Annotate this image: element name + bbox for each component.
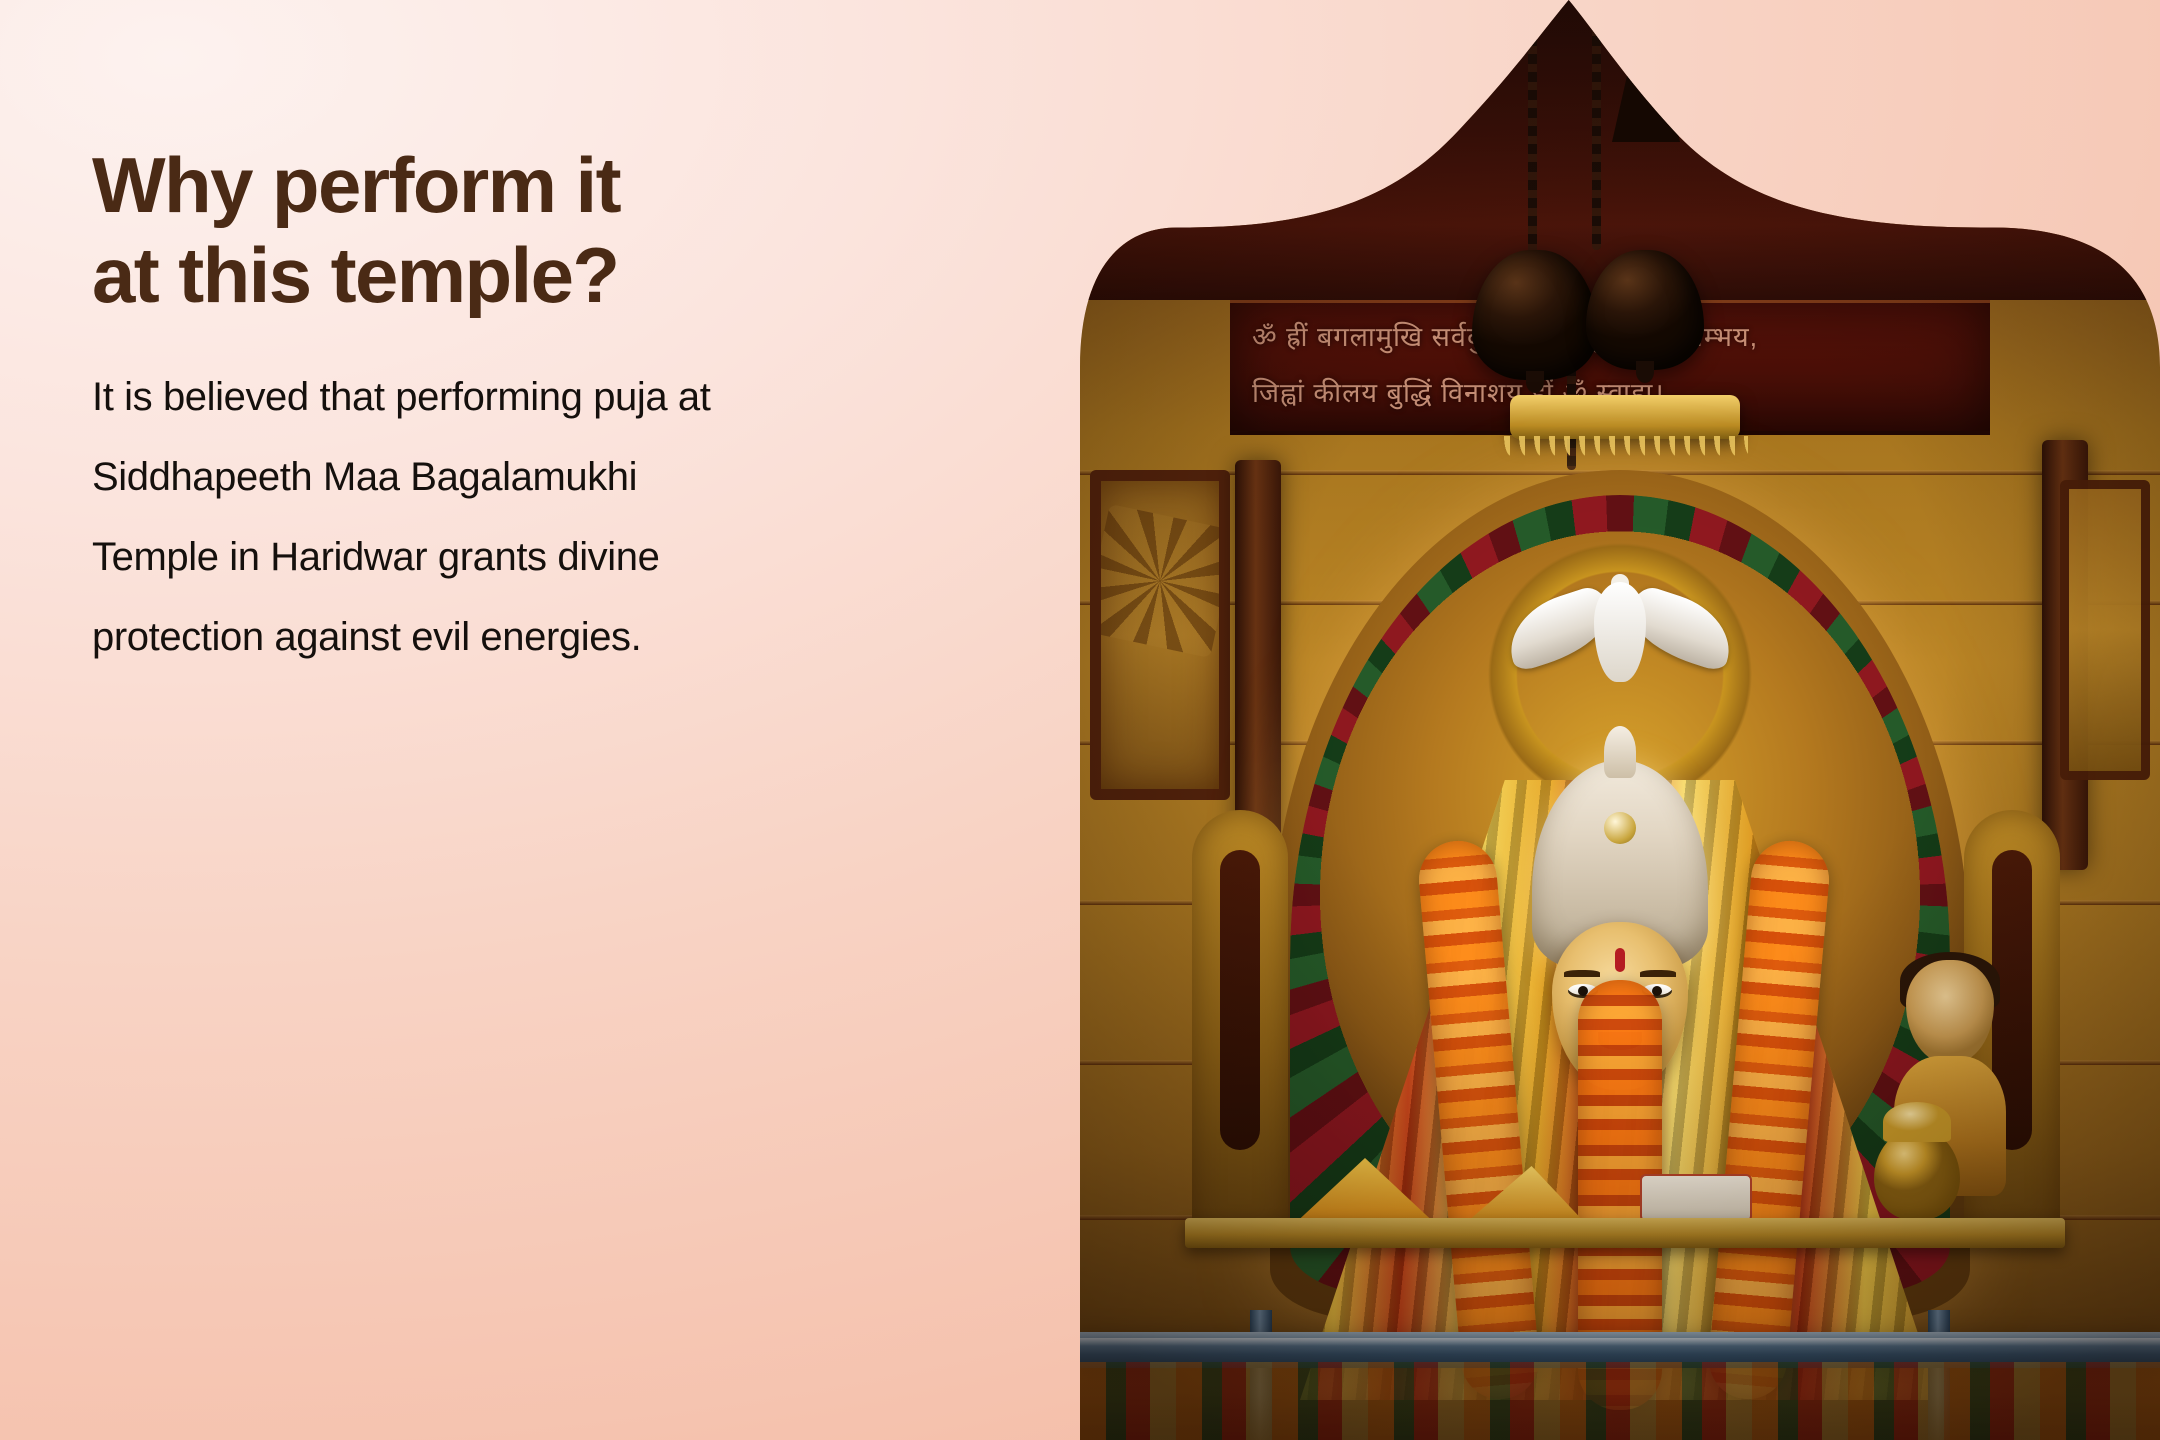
- wall-pillar-left: [1235, 460, 1281, 860]
- arch-masked-photo: ॐ ह्रीं बगलामुखि सर्वदुष्टानां वाचं मुखं…: [1080, 0, 2160, 1440]
- bell-chain: [1592, 0, 1601, 250]
- body-paragraph: It is believed that performing puja at S…: [92, 357, 717, 677]
- throne-arm-left: [1192, 810, 1288, 1240]
- canopy-crest: [1510, 395, 1740, 439]
- swan-body: [1594, 582, 1646, 682]
- text-column: Why perform it at this temple? It is bel…: [92, 140, 732, 677]
- railing-highlight: [1080, 1338, 2160, 1346]
- offering-box: [1640, 1174, 1752, 1222]
- eyebrow-left: [1564, 970, 1600, 977]
- page-title: Why perform it at this temple?: [92, 140, 732, 321]
- companion-head: [1906, 960, 1994, 1064]
- swan-motif-icon: [1505, 580, 1735, 700]
- base-offerings: [1080, 1362, 2160, 1440]
- jali-panel-left: [1090, 470, 1230, 800]
- brass-kalash-icon: [1874, 1128, 1960, 1220]
- jali-panel-right: [2060, 480, 2150, 780]
- offering-shelf: [1185, 1218, 2065, 1248]
- crown-gem-icon: [1604, 812, 1636, 844]
- star-carving-icon: [1090, 504, 1230, 658]
- tilak-icon: [1615, 948, 1625, 972]
- base-shadow-band: [1080, 1362, 2160, 1440]
- temple-photo: ॐ ह्रीं बगलामुखि सर्वदुष्टानां वाचं मुखं…: [1080, 0, 2160, 1440]
- slide-root: Why perform it at this temple? It is bel…: [0, 0, 2160, 1440]
- eyebrow-right: [1640, 970, 1676, 977]
- arch-finial-icon: [1612, 0, 1680, 142]
